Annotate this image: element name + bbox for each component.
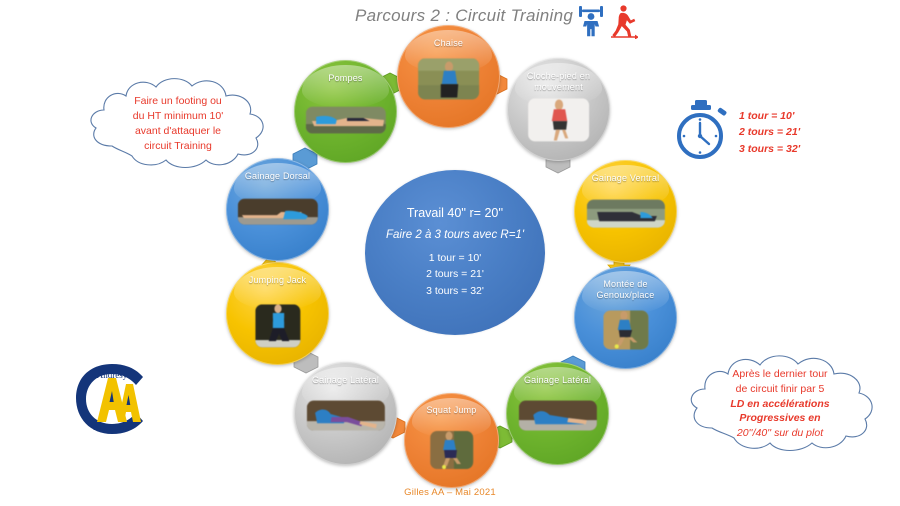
jumping-jack-photo	[255, 304, 300, 347]
runner-icon	[611, 5, 638, 39]
callout-warmup-text: Faire un footing ou du HT minimum 10' av…	[82, 72, 274, 176]
station-squat-jump[interactable]: Squat Jump	[404, 393, 499, 488]
footer-credit: Gilles AA – Mai 2021	[0, 487, 900, 498]
side-plank-photo	[518, 400, 596, 431]
andresy-athletisme-logo: Andrésy Athlétisme	[66, 358, 158, 442]
station-label: Chaise	[401, 38, 496, 49]
station-gainage-ventral[interactable]: Gainage Ventral	[574, 160, 677, 263]
station-label: Gainage Dorsal	[230, 171, 325, 182]
squat-jump-photo	[430, 431, 474, 469]
callout-line: LD en accélérations	[730, 397, 829, 412]
hub-rounds: Faire 2 à 3 tours avec R=1'	[386, 229, 524, 241]
circuit-training-diagram: Parcours 2 : Circuit Training	[0, 0, 900, 506]
hub-work-rest: Travail 40'' r= 20''	[407, 206, 503, 220]
page-title-text: Parcours 2 : Circuit Training	[355, 3, 573, 26]
timer-lines: 1 tour = 10' 2 tours = 21' 3 tours = 32'	[739, 108, 800, 158]
page-title: Parcours 2 : Circuit Training	[355, 3, 638, 44]
back-bridge-photo	[237, 198, 317, 225]
logo-bottom-text: Athlétisme	[93, 422, 131, 432]
wall-sit-photo	[418, 58, 480, 99]
title-icon-group	[576, 3, 638, 44]
front-plank-photo	[586, 199, 664, 228]
side-plank-photo	[306, 400, 384, 431]
callout-line: Faire un footing ou	[134, 94, 222, 109]
hub-duration-3-rounds: 3 tours = 32'	[426, 283, 484, 299]
station-label: Gainage Latéral	[298, 375, 393, 386]
high-knees-photo	[603, 310, 648, 349]
timer-line-1-round: 1 tour = 10'	[739, 108, 800, 125]
hub-duration-1-round: 1 tour = 10'	[426, 250, 484, 266]
station-jumping-jack[interactable]: Jumping Jack	[226, 262, 329, 365]
weightlifter-icon	[579, 6, 603, 36]
station-gainage-lateral-right[interactable]: Gainage Latéral	[506, 362, 609, 465]
callout-cooldown: Après le dernier tour de circuit finir p…	[680, 348, 880, 460]
station-cloche-pied[interactable]: Cloche-pied en mouvement	[507, 58, 610, 161]
stopwatch-icon	[672, 100, 730, 165]
station-chaise[interactable]: Chaise	[397, 25, 500, 128]
callout-warmup: Faire un footing ou du HT minimum 10' av…	[82, 72, 274, 176]
callout-line: Après le dernier tour	[732, 367, 827, 382]
station-label: Squat Jump	[408, 405, 495, 416]
center-summary-circle: Travail 40'' r= 20'' Faire 2 à 3 tours a…	[365, 170, 545, 335]
hub-duration-2-rounds: 2 tours = 21'	[426, 266, 484, 282]
station-label: Gainage Latéral	[510, 375, 605, 386]
station-label: Cloche-pied en mouvement	[511, 71, 606, 92]
hopping-photo	[528, 98, 590, 141]
station-label: Gainage Ventral	[578, 173, 673, 184]
station-label: Montée de Genoux/place	[578, 279, 673, 300]
station-label: Pompes	[298, 73, 393, 84]
callout-line: du HT minimum 10'	[133, 109, 224, 124]
station-montee-genoux[interactable]: Montée de Genoux/place	[574, 266, 677, 369]
timer-line-2-rounds: 2 tours = 21'	[739, 124, 800, 141]
callout-line: de circuit finir par 5	[736, 382, 825, 397]
push-up-photo	[305, 106, 385, 133]
timer-block: 1 tour = 10' 2 tours = 21' 3 tours = 32'	[672, 100, 800, 165]
callout-line: avant d'attaquer le	[135, 124, 221, 139]
station-gainage-dorsal[interactable]: Gainage Dorsal	[226, 158, 329, 261]
timer-line-3-rounds: 3 tours = 32'	[739, 141, 800, 158]
callout-line: Progressives en	[739, 411, 820, 426]
station-gainage-lateral-left[interactable]: Gainage Latéral	[294, 362, 397, 465]
callout-cooldown-text: Après le dernier tour de circuit finir p…	[680, 348, 880, 460]
logo-top-text: Andrésy	[97, 370, 128, 380]
callout-line: 20''/40'' sur du plot	[737, 426, 823, 441]
station-pompes[interactable]: Pompes	[294, 60, 397, 163]
gloss-highlight	[302, 65, 389, 108]
station-label: Jumping Jack	[230, 275, 325, 286]
callout-line: circuit Training	[144, 139, 212, 154]
